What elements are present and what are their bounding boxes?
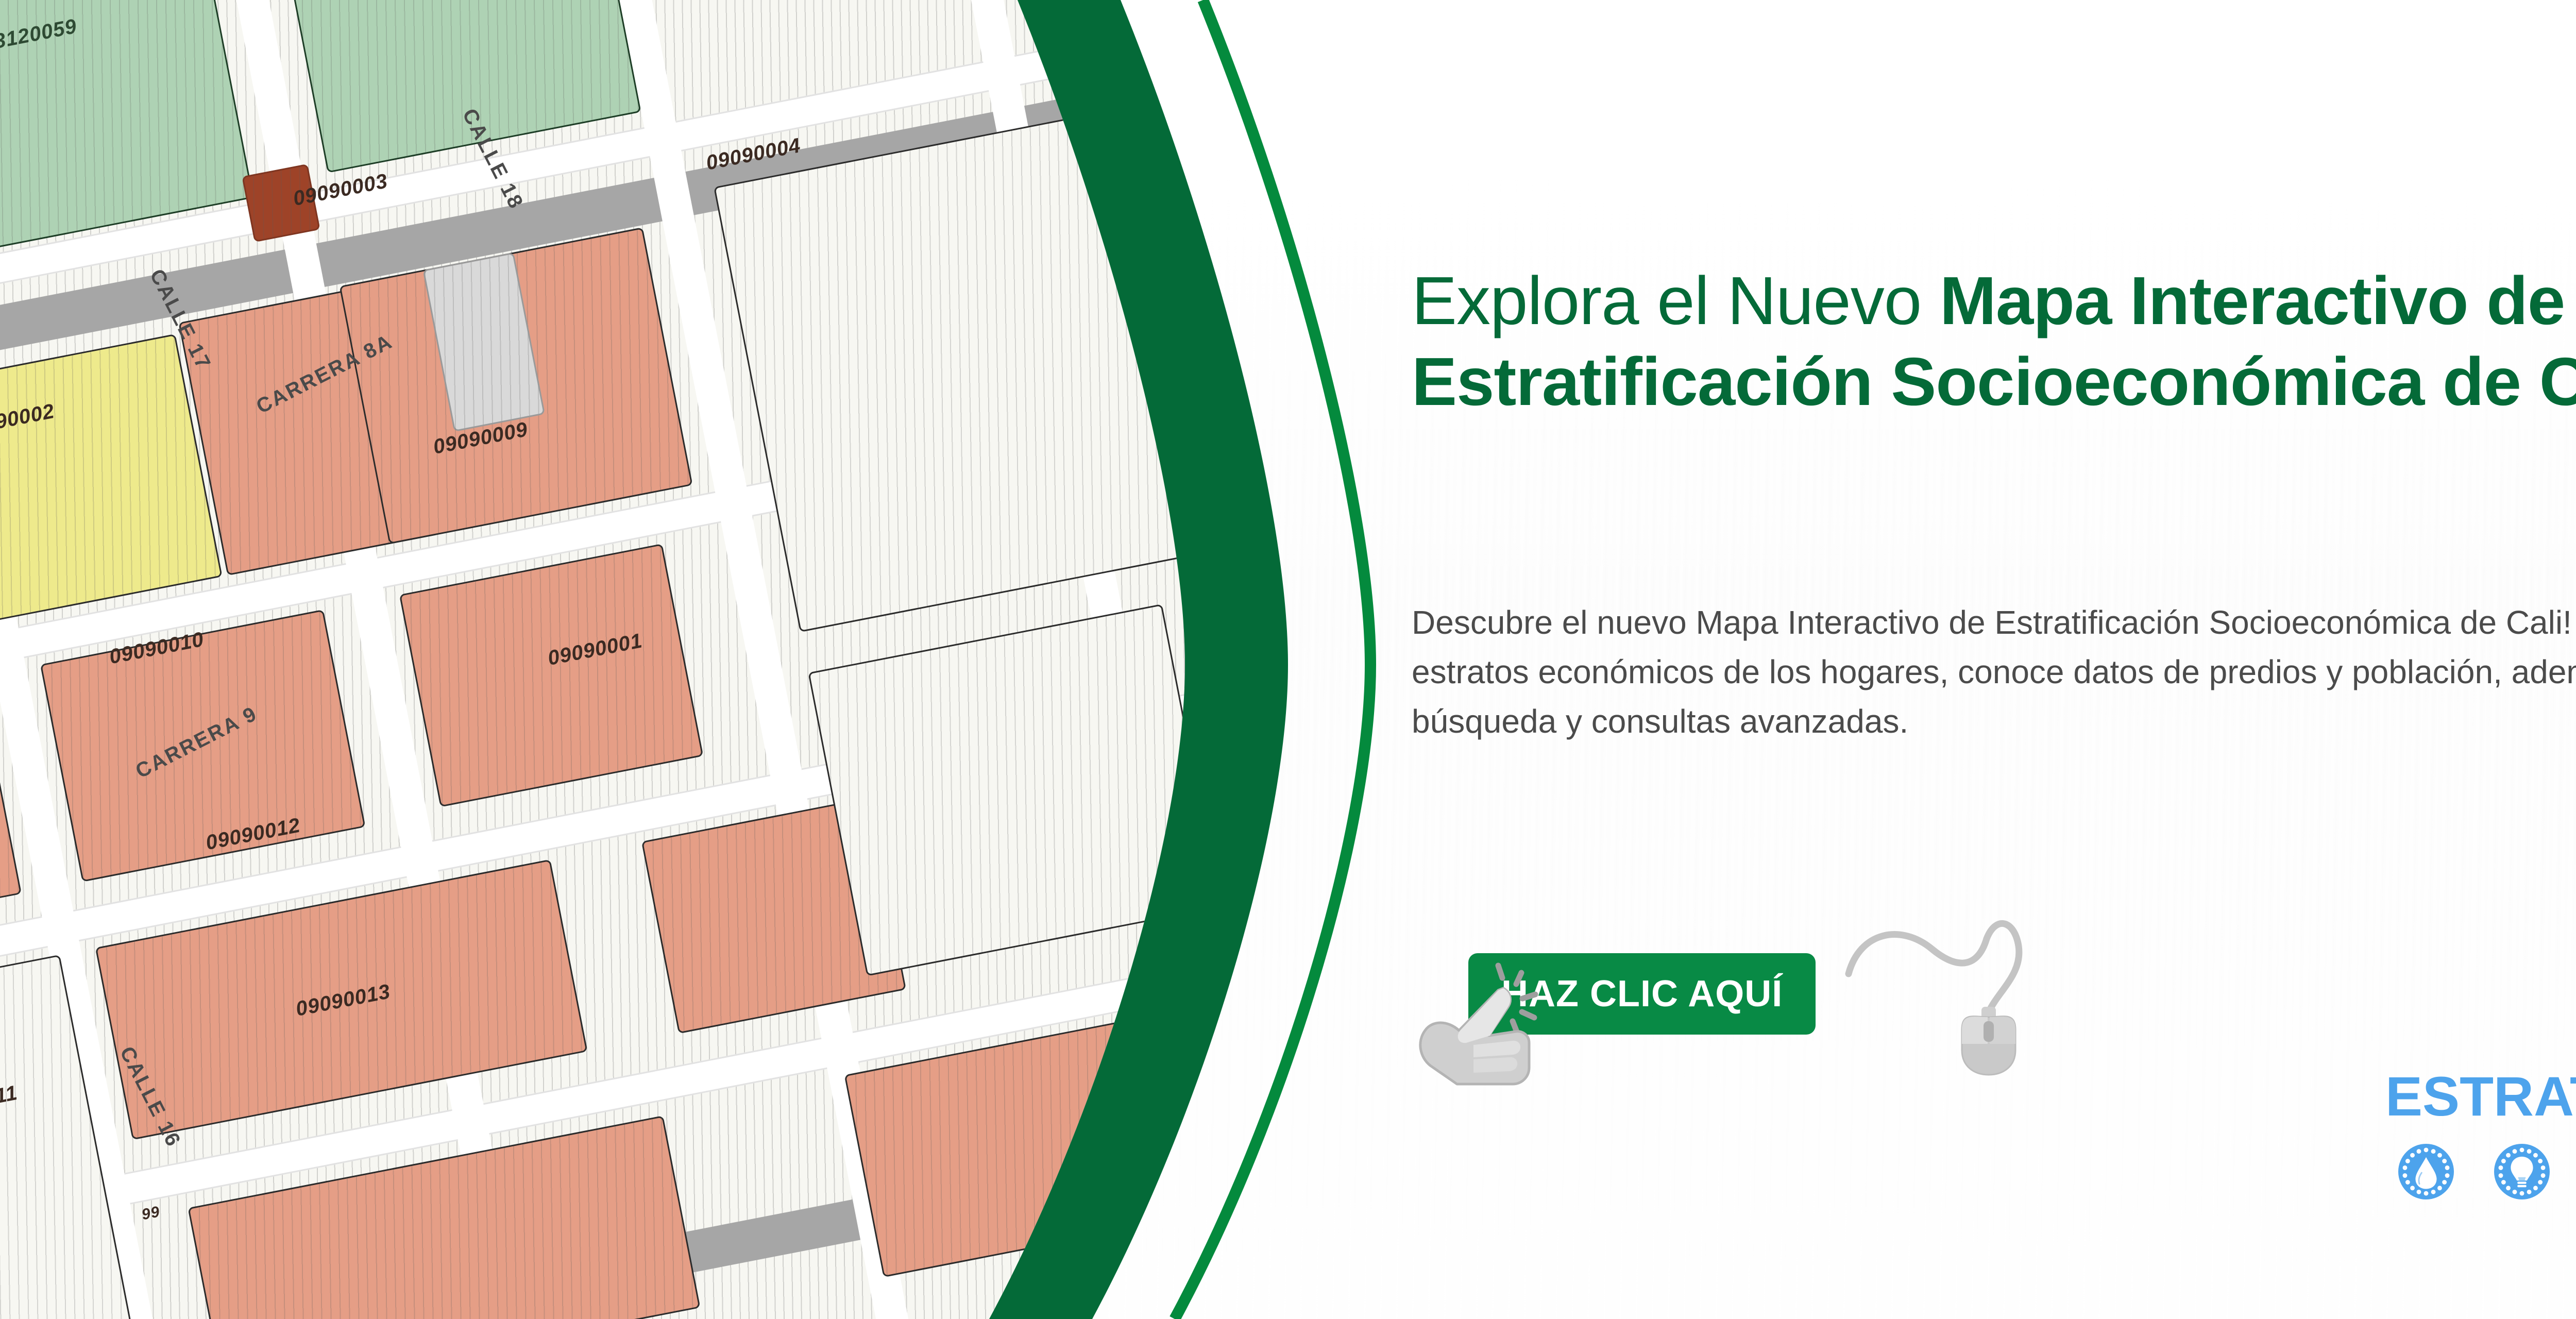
water-drop-icon: [2398, 1144, 2454, 1199]
promo-banner: 0312005803120059090900020909000309090004…: [0, 0, 2576, 1319]
mouse-cable-left: [1849, 935, 1987, 974]
map-canvas: 0312005803120059090900020909000309090004…: [0, 0, 1267, 1319]
pointing-hand-click-icon: [1412, 958, 1551, 1087]
map-block-label: 99: [140, 1203, 161, 1224]
light-bulb-icon: [2494, 1144, 2550, 1199]
headline-lead: Explora el Nuevo: [1412, 263, 1940, 339]
wordmark-part-blue: ESTRATIF: [2385, 1065, 2576, 1127]
page-title: Explora el Nuevo Mapa Interactivo de Est…: [1412, 260, 2576, 422]
logo-group: ESTRATIFICACIÓN: [2385, 1064, 2576, 1280]
cta-zone: HAZ CLIC AQUÍ: [1412, 897, 2030, 1077]
mouse-cable-right: [1987, 923, 2019, 1012]
computer-mouse-icon: [1844, 902, 2030, 1077]
estratificacion-wordmark: ESTRATIFICACIÓN: [2385, 1064, 2576, 1128]
description-paragraph: Descubre el nuevo Mapa Interactivo de Es…: [1412, 598, 2576, 746]
service-icons-row: [2398, 1144, 2576, 1199]
parcel-block-salmon-c: [399, 544, 704, 807]
cadastral-map-panel: 0312005803120059090900020909000309090004…: [0, 0, 1267, 1319]
